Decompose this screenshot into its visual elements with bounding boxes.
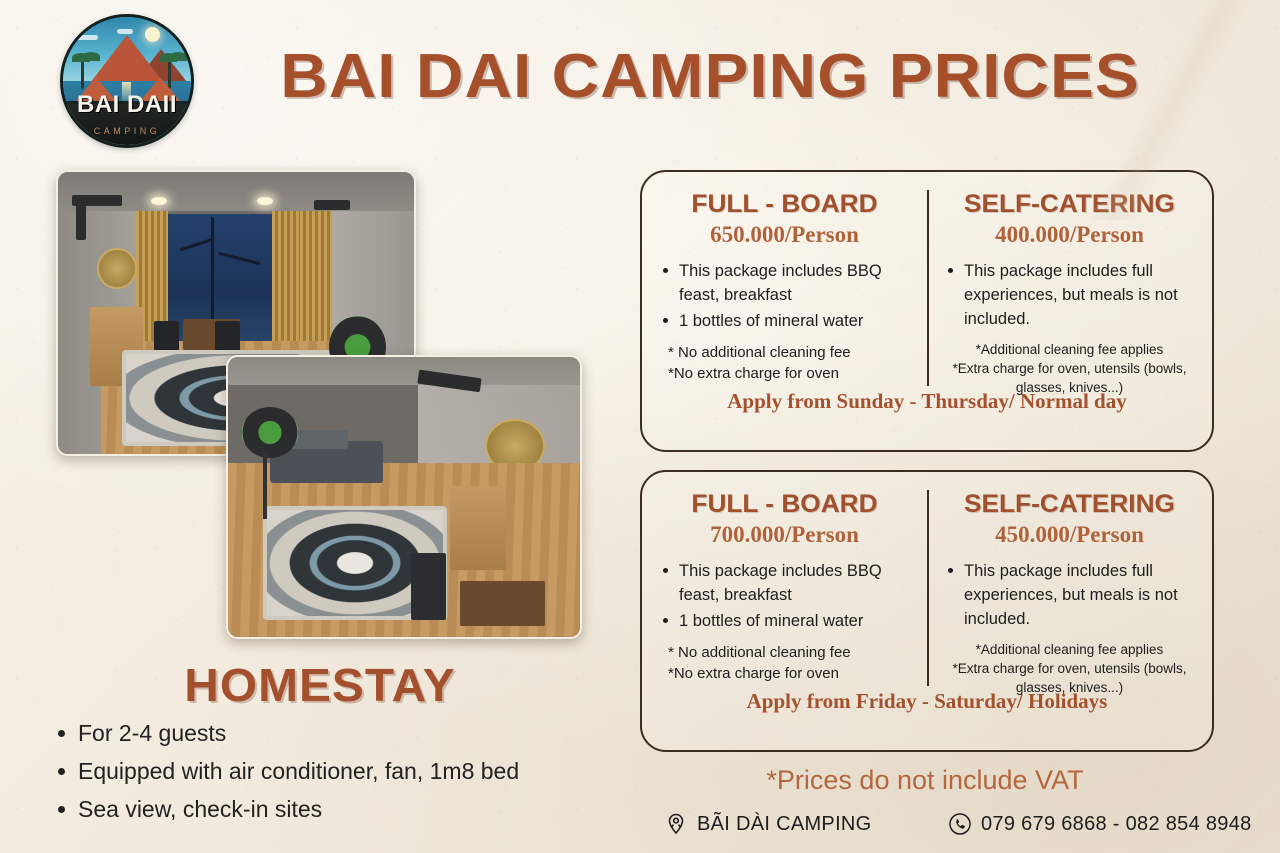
list-item: 1 bottles of mineral water	[658, 609, 911, 633]
poster-canvas: BAI DAII CAMPING BAI DAI CAMPING PRICES	[0, 0, 1280, 853]
package-price: 700.000/Person	[658, 522, 911, 548]
location-text: BÃI DÀI CAMPING	[697, 813, 872, 836]
column-divider	[927, 490, 929, 686]
note-line: *Extra charge for oven, utensils (bowls,…	[943, 359, 1196, 397]
note-line: *Additional cleaning fee applies	[943, 640, 1196, 659]
photo-cabinet	[450, 486, 506, 570]
note-line: *No extra charge for oven	[668, 663, 911, 684]
photo-curtain-right	[272, 211, 304, 352]
list-item: Equipped with air conditioner, fan, 1m8 …	[52, 756, 652, 786]
package-bullets: This package includes full experiences, …	[943, 259, 1196, 331]
note-line: *No extra charge for oven	[668, 363, 911, 384]
photo-standing-fan	[242, 407, 298, 457]
photo-chair	[411, 553, 446, 620]
photo-shelf-bracket	[76, 195, 87, 240]
package-title: FULL - BOARD	[652, 490, 918, 519]
footer-location: BÃI DÀI CAMPING	[664, 812, 872, 836]
package-price: 450.000/Person	[943, 522, 1196, 548]
note-line: *Additional cleaning fee applies	[943, 340, 1196, 359]
location-pin-icon	[664, 812, 688, 836]
vat-note: *Prices do not include VAT	[640, 765, 1210, 796]
photo-content	[228, 357, 580, 637]
package-self-catering: SELF-CATERING 450.000/Person This packag…	[927, 472, 1212, 686]
package-full-board: FULL - BOARD 700.000/Person This package…	[642, 472, 927, 686]
package-full-board: FULL - BOARD 650.000/Person This package…	[642, 172, 927, 386]
package-notes: *Additional cleaning fee applies *Extra …	[943, 640, 1196, 697]
package-notes: *Additional cleaning fee applies *Extra …	[943, 340, 1196, 397]
note-line: * No additional cleaning fee	[668, 342, 911, 363]
price-card-weekday: FULL - BOARD 650.000/Person This package…	[640, 170, 1214, 452]
column-divider	[927, 190, 929, 386]
package-title: SELF-CATERING	[937, 190, 1203, 219]
list-item: This package includes BBQ feast, breakfa…	[658, 559, 911, 607]
package-price: 650.000/Person	[658, 222, 911, 248]
photo-tree-branch	[211, 217, 214, 335]
photo-shelf-bracket	[314, 200, 350, 210]
homestay-interior-bedroom-photo	[226, 355, 582, 639]
package-bullets: This package includes full experiences, …	[943, 559, 1196, 631]
price-card-weekend: FULL - BOARD 700.000/Person This package…	[640, 470, 1214, 752]
logo-brand-name: BAI DAII	[63, 91, 191, 119]
phone-text: 079 679 6868 - 082 854 8948	[981, 813, 1252, 836]
homestay-feature-list: For 2-4 guests Equipped with air conditi…	[52, 718, 652, 832]
package-notes: * No additional cleaning fee *No extra c…	[658, 342, 911, 384]
list-item: This package includes full experiences, …	[943, 559, 1196, 631]
page-title: BAI DAI CAMPING PRICES	[275, 45, 1144, 109]
price-card-columns: FULL - BOARD 700.000/Person This package…	[642, 472, 1212, 686]
price-card-columns: FULL - BOARD 650.000/Person This package…	[642, 172, 1212, 386]
logo-palm-frond	[82, 52, 100, 61]
package-self-catering: SELF-CATERING 400.000/Person This packag…	[927, 172, 1212, 386]
package-bullets: This package includes BBQ feast, breakfa…	[658, 559, 911, 633]
list-item: 1 bottles of mineral water	[658, 309, 911, 333]
footer-phone: 079 679 6868 - 082 854 8948	[948, 812, 1252, 836]
package-title: SELF-CATERING	[937, 490, 1203, 519]
note-line: *Extra charge for oven, utensils (bowls,…	[943, 659, 1196, 697]
list-item: Sea view, check-in sites	[52, 794, 652, 824]
camping-logo-icon: BAI DAII CAMPING	[60, 14, 194, 148]
photo-curtain-right	[300, 211, 332, 352]
homestay-title: HOMESTAY	[29, 658, 611, 712]
list-item: This package includes BBQ feast, breakfa…	[658, 259, 911, 307]
note-line: * No additional cleaning fee	[668, 642, 911, 663]
photo-ceiling	[228, 357, 580, 385]
brand-logo: BAI DAII CAMPING	[60, 14, 188, 142]
list-item: For 2-4 guests	[52, 718, 652, 748]
phone-circle-icon	[948, 812, 972, 836]
photo-table	[460, 581, 544, 626]
photo-fan-pole	[263, 452, 267, 519]
logo-cloud	[117, 29, 133, 34]
package-bullets: This package includes BBQ feast, breakfa…	[658, 259, 911, 333]
package-notes: * No additional cleaning fee *No extra c…	[658, 642, 911, 684]
package-price: 400.000/Person	[943, 222, 1196, 248]
logo-palm-frond	[169, 52, 187, 61]
list-item: This package includes full experiences, …	[943, 259, 1196, 331]
package-title: FULL - BOARD	[652, 190, 918, 219]
logo-brand-subtitle: CAMPING	[63, 126, 191, 136]
photo-wall-mirror	[97, 248, 137, 289]
